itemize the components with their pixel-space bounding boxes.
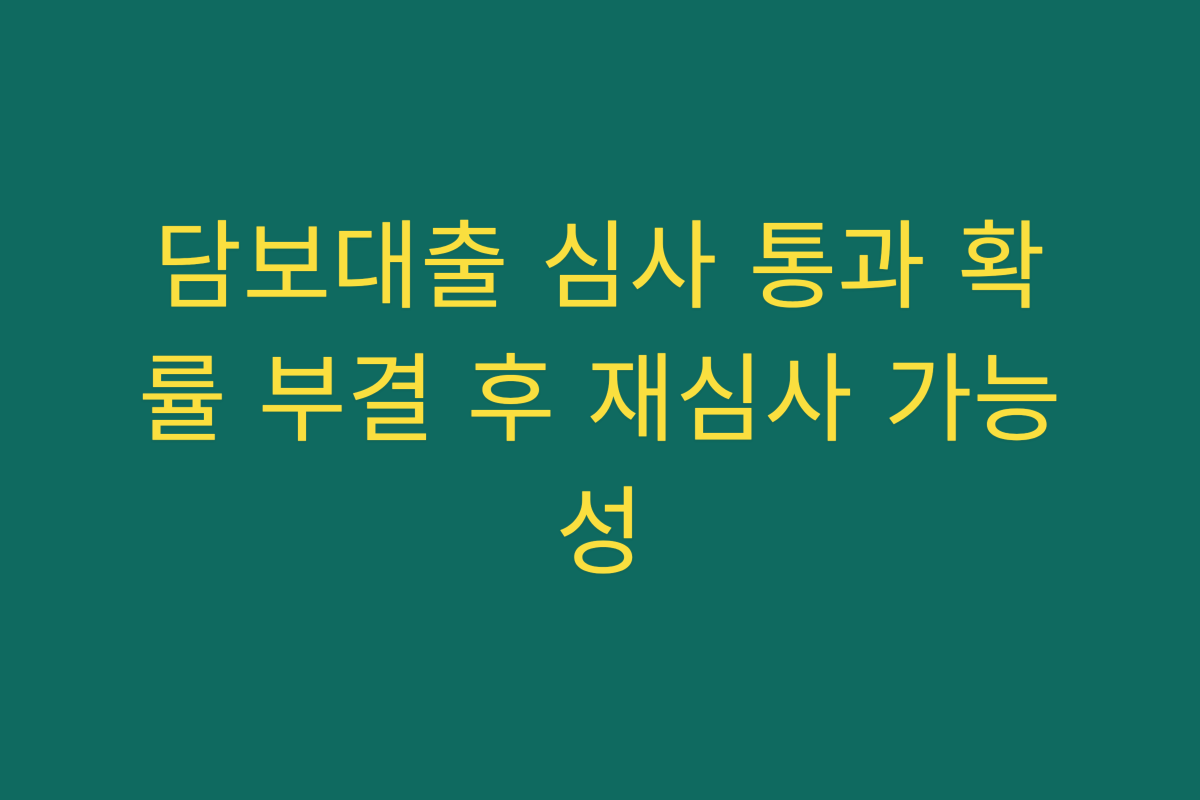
page-title: 담보대출 심사 통과 확 률 부결 후 재심사 가능 성 [105,201,1095,600]
banner-canvas: 담보대출 심사 통과 확 률 부결 후 재심사 가능 성 [0,0,1200,800]
headline-container: 담보대출 심사 통과 확 률 부결 후 재심사 가능 성 [105,201,1095,600]
headline-line-2: 률 부결 후 재심사 가능 [105,334,1095,467]
headline-line-3: 성 [105,467,1095,600]
headline-line-1: 담보대출 심사 통과 확 [105,201,1095,334]
